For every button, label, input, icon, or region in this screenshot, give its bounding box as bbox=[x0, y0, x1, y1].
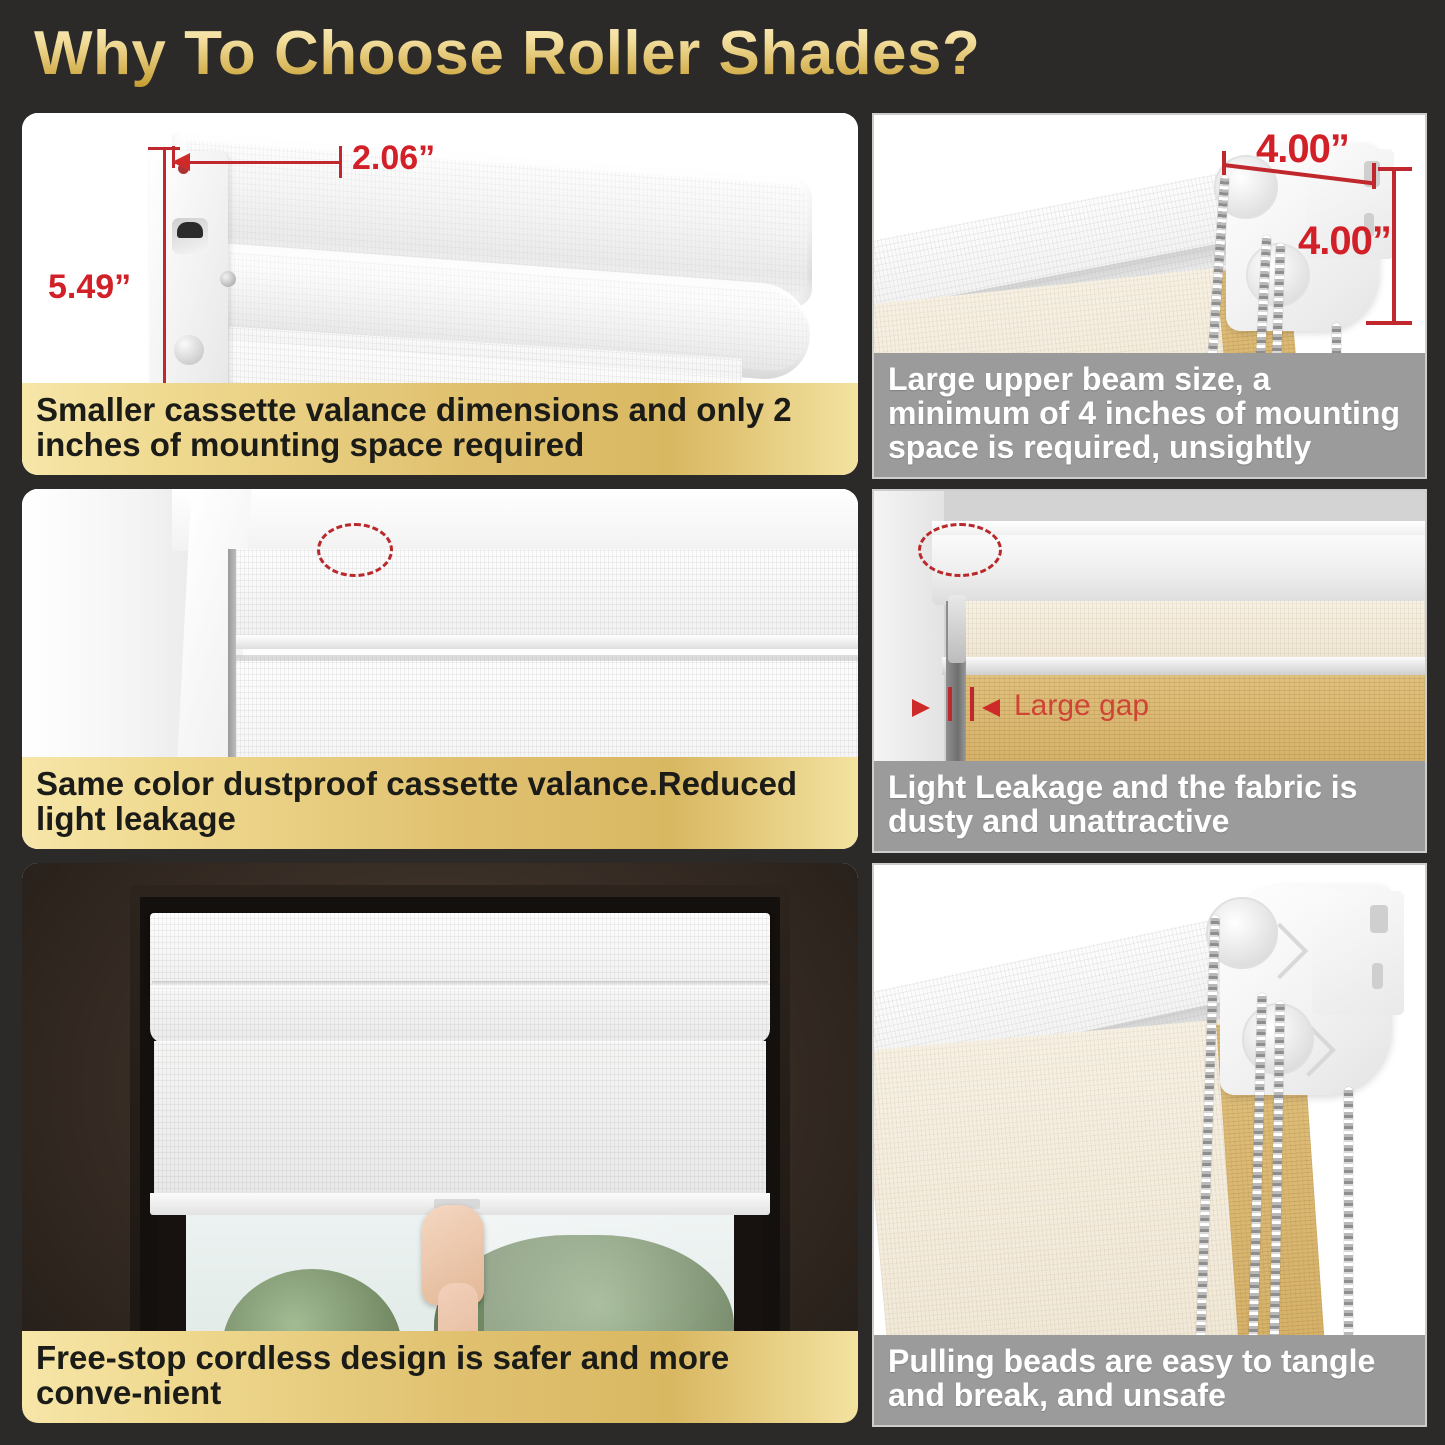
panel-5-caption: Free-stop cordless design is safer and m… bbox=[22, 1331, 858, 1423]
panel-6-caption: Pulling beads are easy to tangle and bre… bbox=[874, 1335, 1425, 1425]
beam-width-tick-left bbox=[1222, 151, 1226, 175]
beam-width-label: 4.00” bbox=[1256, 127, 1349, 172]
width-dim-arrow bbox=[172, 153, 190, 171]
window-frame-top bbox=[172, 489, 858, 551]
panel-6: Pulling beads are easy to tangle and bre… bbox=[872, 863, 1427, 1427]
beam-height-dim-line bbox=[1392, 167, 1396, 325]
bracket-arm bbox=[1312, 891, 1404, 1015]
large-gap-label: Large gap bbox=[1014, 689, 1149, 723]
beam-height-tick-bottom bbox=[1366, 321, 1412, 325]
bracket-slot-top bbox=[172, 218, 208, 254]
fascia-bottom-rail bbox=[942, 657, 1425, 675]
valance-bottom-lip bbox=[232, 635, 858, 649]
valance-lower-curve bbox=[150, 985, 770, 1043]
panel-3: smaller gap Same color dustproof cassett… bbox=[22, 489, 858, 849]
beam-highlight bbox=[932, 521, 1425, 535]
callout-dashed-circle bbox=[317, 523, 393, 577]
top-beam bbox=[932, 529, 1425, 605]
bracket-screw-mid bbox=[220, 271, 236, 287]
infographic-page: Why To Choose Roller Shades? bbox=[0, 0, 1445, 1445]
panel-4: Large gap Light Leakage and the fabric i… bbox=[872, 489, 1427, 853]
page-title: Why To Choose Roller Shades? bbox=[34, 18, 980, 89]
width-dim-line bbox=[172, 161, 342, 164]
cassette-valance bbox=[150, 913, 770, 991]
gap-arrow-left bbox=[912, 699, 930, 717]
panel-5: Free-stop cordless design is safer and m… bbox=[22, 863, 858, 1423]
fabric-shadow-line bbox=[236, 655, 858, 661]
height-dimension-label: 5.49” bbox=[48, 268, 131, 307]
bracket-clip bbox=[948, 595, 966, 663]
end-cap-bracket bbox=[150, 151, 228, 421]
cream-fascia bbox=[948, 601, 1425, 659]
panel-1: 2.06” 5.49” Smaller cassette valance dim… bbox=[22, 113, 858, 475]
shade-fabric bbox=[154, 1041, 766, 1201]
callout-dashed-circle bbox=[918, 523, 1002, 577]
gap-arrow-right bbox=[982, 699, 1000, 717]
panel-1-caption: Smaller cassette valance dimensions and … bbox=[22, 383, 858, 475]
width-dim-tick-right bbox=[339, 146, 342, 178]
valance-groove bbox=[152, 981, 768, 987]
beam-height-tick-top bbox=[1378, 167, 1412, 171]
panel-2-caption: Large upper beam size, a minimum of 4 in… bbox=[874, 353, 1425, 477]
height-dim-tick-top bbox=[148, 147, 180, 150]
bracket-notch-2 bbox=[1372, 963, 1383, 989]
beam-width-tick-right bbox=[1372, 163, 1376, 189]
panel-3-caption: Same color dustproof cassette valance.Re… bbox=[22, 757, 858, 849]
panel-2: 4.00” 4.00” Large upper beam size, a min… bbox=[872, 113, 1427, 479]
gap-marker-bar-1 bbox=[948, 687, 952, 721]
beam-height-label: 4.00” bbox=[1298, 219, 1391, 264]
bracket-slot-bottom bbox=[174, 335, 204, 365]
bracket-notch-1 bbox=[1370, 905, 1388, 933]
width-dimension-label: 2.06” bbox=[352, 139, 435, 178]
gap-marker-bar-2 bbox=[970, 687, 974, 721]
panel-4-caption: Light Leakage and the fabric is dusty an… bbox=[874, 761, 1425, 851]
